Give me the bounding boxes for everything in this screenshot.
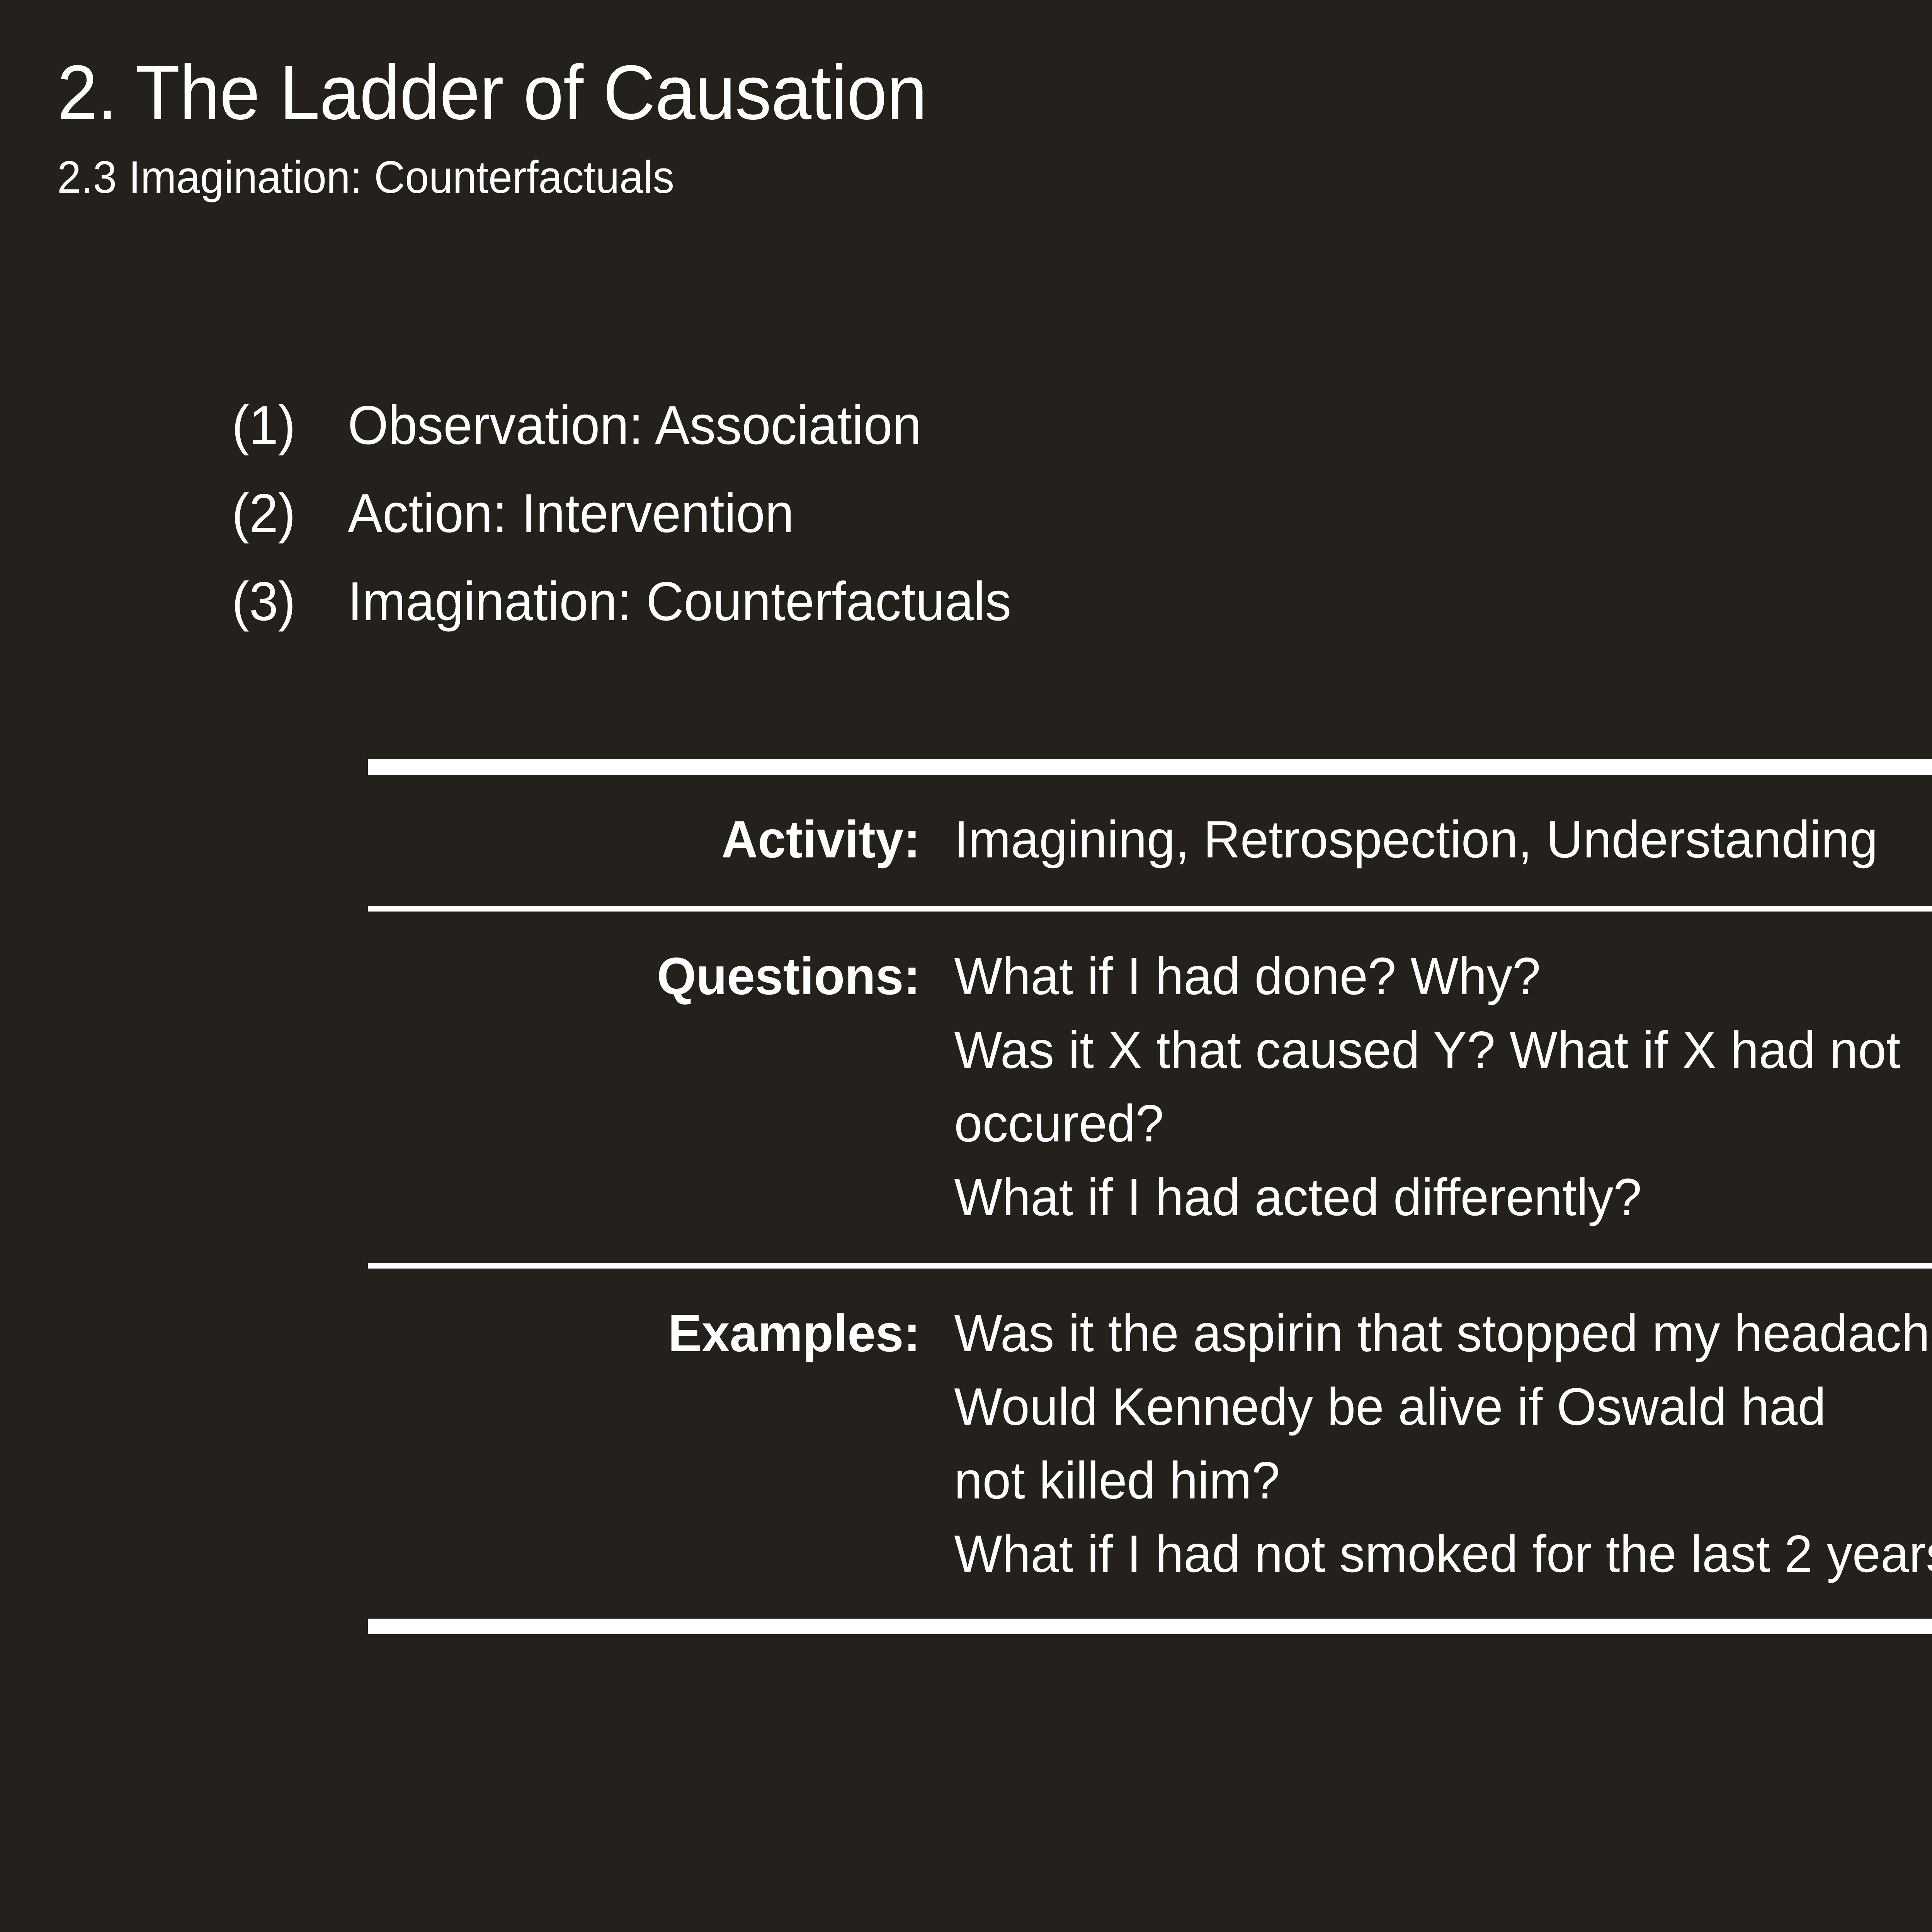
- table-midrule-1: [368, 906, 1932, 912]
- slide-header: 2. The Ladder of Causation 2.3 Imaginati…: [57, 54, 1932, 200]
- page-title: 2. The Ladder of Causation: [57, 54, 1932, 131]
- table-row-label: Activity:: [390, 803, 920, 876]
- table-cell-line: What if I had acted differently?: [954, 1160, 1932, 1234]
- table-cell-line: Was it the aspirin that stopped my heada…: [954, 1296, 1932, 1370]
- table-toprule: [368, 759, 1932, 775]
- list-item-number: (2): [232, 486, 342, 541]
- table-row: Activity: Imagining, Retrospection, Unde…: [368, 775, 1932, 906]
- table-cell-line: Was it X that caused Y? What if X had no…: [954, 1013, 1932, 1087]
- ladder-list: (1) Observation: Association (2) Action:…: [232, 398, 1932, 662]
- table-row-content: Imagining, Retrospection, Understanding: [920, 803, 1932, 876]
- beamer-slide: 2. The Ladder of Causation 2.3 Imaginati…: [0, 0, 1932, 1932]
- table-row-content: What if I had done? Why? Was it X that c…: [920, 939, 1932, 1234]
- table-bottomrule: [368, 1619, 1932, 1634]
- table-row-content: Was it the aspirin that stopped my heada…: [920, 1296, 1932, 1591]
- list-item-number: (1): [232, 398, 342, 453]
- table-cell-line: occured?: [954, 1087, 1932, 1160]
- list-item: (2) Action: Intervention: [232, 486, 1932, 541]
- counterfactual-table: Activity: Imagining, Retrospection, Unde…: [368, 759, 1932, 1634]
- table-row-label: Questions:: [390, 939, 920, 1013]
- list-item-label: Action: Intervention: [348, 486, 794, 541]
- table-cell-line: What if I had done? Why?: [954, 939, 1932, 1013]
- table-cell-line: What if I had not smoked for the last 2 …: [954, 1517, 1932, 1590]
- table-row: Questions: What if I had done? Why? Was …: [368, 912, 1932, 1263]
- table-cell-line: Imagining, Retrospection, Understanding: [954, 803, 1932, 876]
- page-subtitle: 2.3 Imagination: Counterfactuals: [57, 155, 1932, 200]
- list-item-label: Imagination: Counterfactuals: [348, 574, 1011, 629]
- table-row-label: Examples:: [390, 1296, 920, 1370]
- table-row: Examples: Was it the aspirin that stoppe…: [368, 1269, 1932, 1619]
- list-item: (1) Observation: Association: [232, 398, 1932, 453]
- list-item: (3) Imagination: Counterfactuals: [232, 574, 1932, 629]
- table-cell-line: not killed him?: [954, 1444, 1932, 1517]
- list-item-number: (3): [232, 574, 342, 629]
- table-midrule-2: [368, 1263, 1932, 1269]
- list-item-label: Observation: Association: [348, 398, 922, 453]
- table-cell-line: Would Kennedy be alive if Oswald had: [954, 1370, 1932, 1443]
